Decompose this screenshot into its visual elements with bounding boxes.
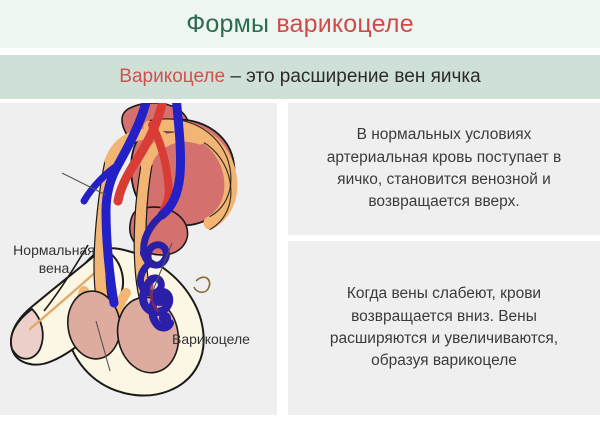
varicose-node-b (153, 292, 167, 306)
varicose-node-c (159, 312, 171, 324)
label-normal-vein: Нормальная вена (4, 241, 104, 277)
varicose-node-a (140, 247, 152, 259)
infographic-root: Формы варикоцеле Варикоцеле – это расшир… (0, 0, 600, 421)
text-panel-varicocele-formation: Когда вены слабеют, крови возвращается в… (288, 241, 600, 415)
text-panel-normal-flow-body: В нормальных условиях артериальная кровь… (304, 124, 584, 214)
subtitle-rest: – это расширение вен яичка (225, 66, 481, 87)
subtitle-text: Варикоцеле – это расширение вен яичка (119, 66, 480, 88)
text-panel-varicocele-formation-body: Когда вены слабеют, крови возвращается в… (304, 283, 584, 373)
page-title: Формы варикоцеле (186, 10, 414, 39)
appendix-testis-loop (194, 277, 210, 292)
subtitle-keyword: Варикоцеле (119, 66, 225, 87)
header-bar: Формы варикоцеле (0, 0, 600, 48)
label-varicocele: Варикоцеле (172, 330, 268, 348)
subtitle-bar: Варикоцеле – это расширение вен яичка (0, 55, 600, 99)
text-panel-normal-flow: В нормальных условиях артериальная кровь… (288, 103, 600, 235)
page-title-prefix: Формы (186, 10, 276, 38)
glans (11, 309, 43, 359)
page-title-keyword: варикоцеле (276, 10, 414, 38)
illustration-panel: Нормальная вена Варикоцеле Яички (0, 103, 277, 415)
